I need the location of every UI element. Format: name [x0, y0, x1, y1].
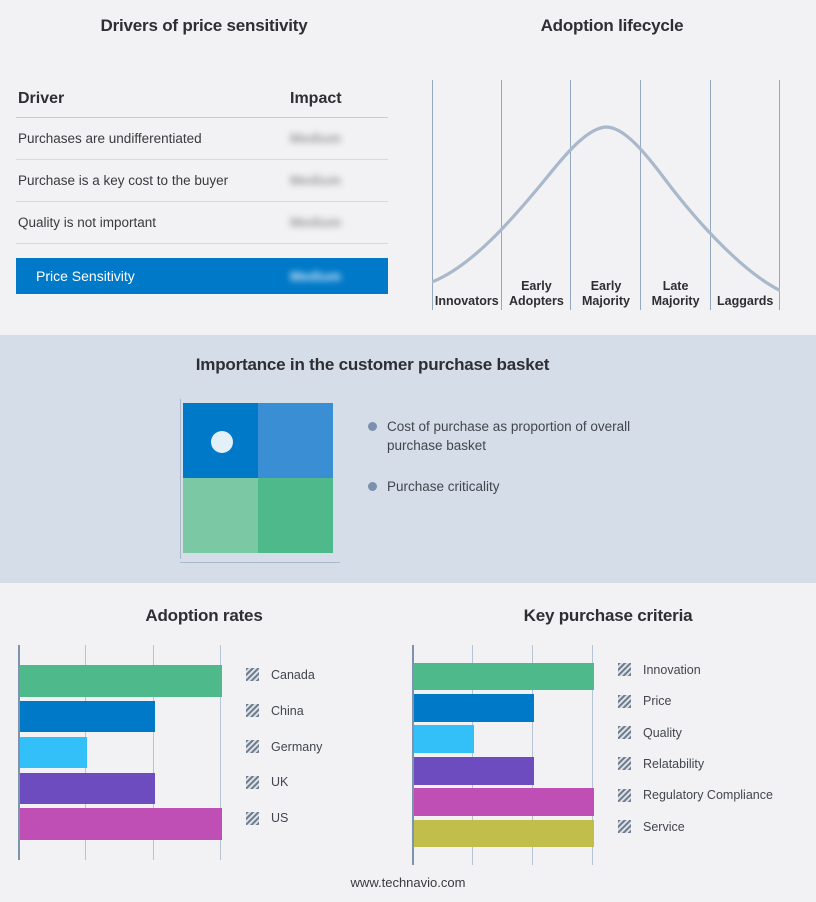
legend-item: US [246, 800, 322, 836]
legend-item: Quality [618, 717, 773, 748]
bar-price [414, 694, 534, 722]
legend-swatch-hatch-icon [246, 812, 259, 825]
segment-label-line2: Majority [652, 294, 700, 309]
basket-panel-title: Importance in the customer purchase bask… [0, 355, 745, 375]
segment-label-line2: Adopters [509, 294, 564, 309]
driver-impact-value: Medium [290, 131, 386, 146]
bar-germany [20, 737, 87, 769]
lifecycle-segment-laggards: Laggards [710, 264, 780, 310]
list-item: Purchase criticality [368, 477, 668, 496]
matrix-axis-horizontal [180, 562, 340, 563]
adoption-lifecycle-chart: Innovators Early Adopters Early Majority… [432, 80, 780, 310]
chart-plot-area [412, 645, 592, 865]
adoption-rates-panel-title: Adoption rates [0, 606, 408, 626]
legend-label: Regulatory Compliance [643, 788, 773, 802]
column-header-impact: Impact [290, 90, 386, 108]
bar-innovation [414, 663, 594, 691]
legend-item: Germany [246, 729, 322, 765]
driver-impact-value: Medium [290, 215, 386, 230]
quadrant-bottom-right [258, 478, 333, 553]
legend-item: Regulatory Compliance [618, 780, 773, 811]
column-header-driver: Driver [18, 90, 290, 108]
legend-swatch-hatch-icon [618, 726, 631, 739]
legend-label: Innovation [643, 663, 701, 677]
key-criteria-panel-title: Key purchase criteria [400, 606, 816, 626]
segment-label-line1: Early [521, 279, 552, 294]
legend-item: UK [246, 764, 322, 800]
key-purchase-criteria-chart: InnovationPriceQualityRelatabilityRegula… [412, 645, 812, 865]
summary-impact-value: Medium [290, 269, 386, 284]
table-row: Purchase is a key cost to the buyer Medi… [16, 160, 388, 202]
legend-swatch-hatch-icon [618, 663, 631, 676]
driver-name: Purchase is a key cost to the buyer [18, 173, 290, 188]
purchase-basket-matrix [180, 403, 340, 563]
summary-driver-name: Price Sensitivity [36, 268, 290, 284]
bar-canada [20, 665, 222, 697]
legend-swatch-hatch-icon [618, 789, 631, 802]
lifecycle-panel-title: Adoption lifecycle [408, 16, 816, 36]
lifecycle-segment-labels: Innovators Early Adopters Early Majority… [432, 264, 780, 310]
legend-label: Germany [271, 740, 322, 754]
quadrant-top-left [183, 403, 258, 478]
legend-label: Canada [271, 668, 315, 682]
bar-quality [414, 725, 474, 753]
matrix-axis-vertical [180, 399, 181, 559]
quadrant-top-right [258, 403, 333, 478]
legend-label: Quality [643, 726, 682, 740]
legend-label: UK [271, 775, 288, 789]
basket-legend-label: Cost of purchase as proportion of overal… [387, 417, 668, 455]
segment-label-line1: Early [591, 279, 622, 294]
segment-label-line1: Late [663, 279, 689, 294]
segment-label-line1: Laggards [717, 294, 773, 309]
legend-item: Service [618, 811, 773, 842]
legend-swatch-hatch-icon [618, 820, 631, 833]
bar-us [20, 808, 222, 840]
legend-item: Innovation [618, 654, 773, 685]
basket-legend: Cost of purchase as proportion of overal… [368, 417, 668, 518]
footer-url: www.technavio.com [0, 875, 816, 890]
driver-name: Quality is not important [18, 215, 290, 230]
chart-plot-area [18, 645, 220, 860]
basket-legend-label: Purchase criticality [387, 477, 500, 496]
bar-service [414, 820, 594, 848]
legend-item: Canada [246, 657, 322, 693]
legend-swatch-hatch-icon [246, 740, 259, 753]
list-item: Cost of purchase as proportion of overal… [368, 417, 668, 455]
quadrant-bottom-left [183, 478, 258, 553]
lifecycle-segment-late-majority: Late Majority [641, 264, 711, 310]
legend-label: Price [643, 694, 671, 708]
segment-label-line1: Innovators [435, 294, 499, 309]
legend-label: Relatability [643, 757, 704, 771]
table-row: Purchases are undifferentiated Medium [16, 118, 388, 160]
bar-relatability [414, 757, 534, 785]
lifecycle-segment-early-majority: Early Majority [571, 264, 641, 310]
legend-swatch-hatch-icon [618, 757, 631, 770]
driver-impact-value: Medium [290, 173, 386, 188]
legend-swatch-hatch-icon [246, 704, 259, 717]
chart-legend: CanadaChinaGermanyUKUS [246, 657, 322, 836]
adoption-rates-chart: CanadaChinaGermanyUKUS [18, 645, 398, 860]
legend-item: China [246, 693, 322, 729]
price-sensitivity-summary-row: Price Sensitivity Medium [16, 258, 388, 294]
driver-name: Purchases are undifferentiated [18, 131, 290, 146]
lifecycle-segment-innovators: Innovators [432, 264, 502, 310]
legend-item: Relatability [618, 748, 773, 779]
chart-legend: InnovationPriceQualityRelatabilityRegula… [618, 654, 773, 843]
legend-swatch-hatch-icon [618, 695, 631, 708]
legend-label: US [271, 811, 288, 825]
drivers-panel-title: Drivers of price sensitivity [0, 16, 408, 36]
legend-swatch-hatch-icon [246, 668, 259, 681]
matrix-quadrants [183, 403, 333, 553]
drivers-table-header: Driver Impact [16, 90, 388, 118]
drivers-table: Driver Impact Purchases are undifferenti… [16, 90, 388, 294]
bar-uk [20, 773, 155, 805]
bar-china [20, 701, 155, 733]
segment-label-line2: Majority [582, 294, 630, 309]
bullet-dot-icon [368, 482, 377, 491]
bullet-dot-icon [368, 422, 377, 431]
table-row: Quality is not important Medium [16, 202, 388, 244]
legend-label: China [271, 704, 304, 718]
bar-regulatory-compliance [414, 788, 594, 816]
legend-label: Service [643, 820, 685, 834]
lifecycle-segment-early-adopters: Early Adopters [502, 264, 572, 310]
legend-swatch-hatch-icon [246, 776, 259, 789]
matrix-marker-dot [211, 431, 233, 453]
legend-item: Price [618, 685, 773, 716]
infographic-page: Drivers of price sensitivity Driver Impa… [0, 0, 816, 902]
